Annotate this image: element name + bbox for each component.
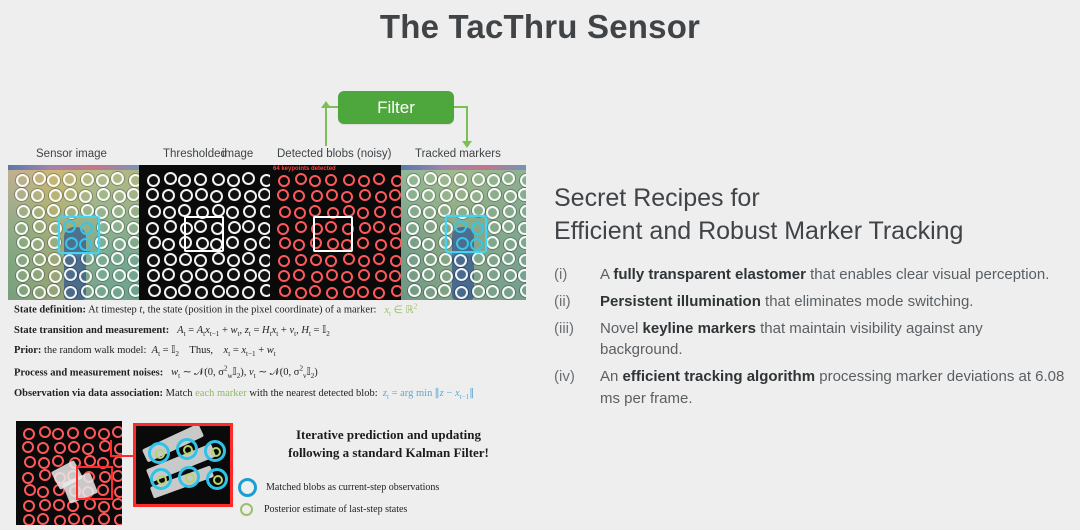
marker-dot [37, 486, 49, 498]
marker-dot [423, 206, 436, 219]
marker-dot [375, 239, 387, 251]
marker-dot [357, 237, 369, 249]
marker-dot [424, 172, 437, 185]
marker-dot [504, 190, 517, 203]
marker-dot [164, 286, 177, 299]
marker-dot [389, 189, 401, 201]
marker-dot [389, 223, 401, 235]
posterior-estimate-ring [185, 473, 195, 483]
marker-dot [358, 175, 370, 187]
selection-box [445, 215, 487, 253]
marker-dot [96, 268, 109, 281]
marker-dot [64, 268, 77, 281]
heading-line-1: Secret Recipes for [554, 182, 1054, 215]
marker-dot [128, 236, 139, 249]
marker-dot [114, 443, 122, 455]
marker-dot [343, 286, 355, 298]
marker-dot [148, 236, 161, 249]
marker-dot [454, 254, 467, 267]
green-ring-icon [240, 503, 253, 516]
math-label-state-transition: State transition and measurement: [14, 325, 169, 336]
marker-dot [519, 254, 526, 267]
marker-dot [111, 172, 124, 185]
panel-detected-blobs: 64 keypoints detected [270, 165, 401, 300]
marker-dot [113, 269, 126, 282]
marker-dot [54, 442, 66, 454]
marker-dot [114, 514, 122, 525]
connector-right-vertical [466, 106, 468, 146]
marker-dot [488, 221, 501, 234]
marker-dot [48, 253, 61, 266]
marker-dot [374, 206, 386, 218]
detail-image-zoomed [133, 423, 233, 507]
marker-dot [487, 254, 500, 267]
marker-dot [194, 254, 207, 267]
marker-dot [162, 238, 175, 251]
kalman-caption: Iterative prediction and updating follow… [246, 426, 531, 461]
posterior-estimate-ring [211, 447, 221, 457]
marker-dot [146, 188, 159, 201]
marker-dot [259, 236, 270, 249]
marker-dot [309, 175, 321, 187]
marker-dot [111, 286, 124, 299]
marker-dot [54, 515, 66, 525]
marker-dot [33, 172, 46, 185]
math-label-prior: Prior: [14, 345, 41, 356]
recipe-item-emphasis: fully transparent elastomer [613, 266, 806, 283]
marker-dot [472, 252, 485, 265]
marker-dot [39, 499, 51, 511]
marker-dot [455, 286, 468, 299]
posterior-estimate-ring [157, 475, 167, 485]
marker-dot [68, 441, 80, 453]
marker-dot [228, 188, 241, 201]
marker-dot [487, 268, 500, 281]
marker-dot [502, 286, 515, 299]
marker-dot [293, 190, 305, 202]
marker-dot [373, 221, 385, 233]
marker-dot [407, 269, 420, 282]
marker-dot [38, 457, 50, 469]
marker-dot [440, 189, 453, 202]
posterior-estimate-ring [183, 445, 193, 455]
marker-dot [504, 238, 517, 251]
legend-label: Posterior estimate of last-step states [264, 504, 407, 515]
marker-dot [455, 188, 468, 201]
marker-dot [408, 205, 421, 218]
recipe-item-number: (iii) [554, 318, 600, 362]
marker-dot [84, 427, 96, 439]
marker-dot [148, 284, 161, 297]
marker-dot [242, 286, 255, 299]
marker-dot [279, 237, 291, 249]
posterior-estimate-ring [155, 449, 165, 459]
math-eq-state-space: xt ∈ ℝ2 [379, 305, 417, 316]
heading-line-2: Efficient and Robust Marker Tracking [554, 215, 1054, 248]
marker-dot [79, 190, 92, 203]
math-eq-state-transition: At = Atxt−1 + wt, zt = Htxt + vt, Ht = 𝕀… [172, 325, 330, 336]
marker-dot [32, 206, 45, 219]
marker-dot [16, 254, 29, 267]
marker-dot [81, 204, 94, 217]
marker-dot [226, 285, 239, 298]
marker-dot [260, 174, 270, 187]
marker-dot [227, 268, 240, 281]
marker-dot [33, 286, 46, 299]
caption-tracked-markers: Tracked markers [415, 148, 501, 160]
filter-box: Filter [338, 91, 454, 124]
marker-dot [260, 205, 270, 218]
posterior-estimate-ring [213, 475, 223, 485]
marker-dot [49, 189, 62, 202]
math-eq-prior-a: At = 𝕀2 [149, 345, 179, 356]
marker-dot [15, 222, 28, 235]
marker-dot [244, 190, 257, 203]
marker-dot [180, 189, 193, 202]
page-title: The TacThru Sensor [0, 8, 1080, 46]
marker-dot [295, 173, 307, 185]
marker-dot [486, 206, 499, 219]
marker-dot [278, 270, 290, 282]
marker-dot [95, 285, 108, 298]
marker-dot [406, 222, 419, 235]
marker-dot [439, 253, 452, 266]
marker-dot [278, 175, 290, 187]
math-line-prior: Prior: the random walk model: At = 𝕀2 Th… [14, 345, 534, 359]
marker-dot [520, 284, 526, 297]
marker-dot [114, 486, 122, 498]
marker-dot [375, 270, 387, 282]
marker-dot [295, 287, 307, 299]
marker-dot [63, 173, 76, 186]
tracked-marker-ring [148, 442, 170, 464]
marker-dot [373, 287, 385, 299]
marker-dot [127, 222, 139, 235]
recipe-item: (iii)Novel keyline markers that maintain… [554, 318, 1066, 362]
marker-dot [113, 238, 126, 251]
marker-dot [391, 285, 401, 297]
marker-dot [64, 286, 77, 299]
marker-dot [309, 285, 321, 297]
tracked-marker-ring [176, 438, 198, 460]
recipe-item: (i)A fully transparent elastomer that en… [554, 264, 1066, 286]
marker-dot [258, 188, 270, 201]
marker-dot [24, 484, 36, 496]
marker-dot [470, 190, 483, 203]
marker-dot [178, 174, 191, 187]
marker-dot [195, 268, 208, 281]
marker-dot [24, 456, 36, 468]
marker-dot [99, 440, 111, 452]
marker-dot [112, 498, 122, 510]
marker-dot [129, 174, 139, 187]
marker-dot [23, 428, 35, 440]
math-text-each-marker: each marker [195, 388, 247, 399]
marker-dot [375, 191, 387, 203]
arrow-up-icon [321, 101, 331, 108]
marker-dot [407, 254, 420, 267]
marker-dot [210, 270, 223, 283]
marker-dot [82, 515, 94, 525]
marker-dot [310, 254, 322, 266]
right-panel-heading: Secret Recipes for Efficient and Robust … [554, 182, 1054, 248]
marker-dot [112, 205, 125, 218]
keypoints-detected-label: 64 keypoints detected [273, 166, 336, 172]
math-derivation-block: State definition: At timestep t, the sta… [14, 302, 534, 408]
marker-dot [37, 513, 49, 525]
marker-dot [17, 236, 30, 249]
marker-dot [147, 254, 160, 267]
recipe-item-number: (i) [554, 264, 600, 286]
marker-dot [162, 268, 175, 281]
marker-dot [407, 174, 420, 187]
marker-dot [212, 252, 225, 265]
marker-dot [486, 285, 499, 298]
marker-dot [98, 513, 110, 525]
tracked-marker-ring [178, 466, 200, 488]
marker-dot [242, 172, 255, 185]
marker-dot [358, 269, 370, 281]
marker-dot [389, 270, 401, 282]
panel-sensor-image [8, 165, 139, 300]
marker-dot [212, 173, 225, 186]
marker-dot [228, 221, 241, 234]
marker-dot [259, 254, 270, 267]
marker-dot [23, 500, 35, 512]
marker-dot [359, 222, 371, 234]
marker-dot [424, 220, 437, 233]
marker-dot [343, 174, 355, 186]
marker-dot [194, 173, 207, 186]
marker-dot [293, 239, 305, 251]
marker-dot [68, 513, 80, 525]
legend-item: Matched blobs as current-step observatio… [238, 478, 538, 497]
marker-dot [454, 173, 467, 186]
marker-dot [112, 470, 122, 482]
marker-dot [341, 271, 353, 283]
legend: Matched blobs as current-step observatio… [238, 478, 538, 522]
marker-dot [67, 427, 79, 439]
marker-dot [195, 188, 208, 201]
marker-dot [470, 270, 483, 283]
marker-dot [84, 498, 96, 510]
marker-dot [293, 269, 305, 281]
marker-dot [31, 238, 44, 251]
marker-dot [227, 254, 240, 267]
selection-box [313, 216, 353, 252]
marker-dot [242, 220, 255, 233]
marker-dot [258, 222, 270, 235]
marker-dot [438, 284, 451, 297]
marker-dot [438, 174, 451, 187]
filter-label: Filter [377, 98, 415, 118]
marker-dot [279, 206, 291, 218]
marker-dot [195, 286, 208, 299]
marker-dot [278, 255, 290, 267]
marker-dot [22, 472, 34, 484]
detail-connector-horizontal [110, 455, 134, 457]
caption-detected-blobs: Detected blobs (noisy) [277, 148, 391, 160]
marker-dot [147, 269, 160, 282]
marker-dot [258, 269, 270, 282]
math-eq-noises: wt ∼ 𝒩(0, σ2w𝕀2), vt ∼ 𝒩(0, σ2v𝕀2) [166, 367, 318, 378]
math-text-prior: the random walk model: [44, 345, 146, 356]
marker-dot [164, 253, 177, 266]
marker-dot [112, 426, 122, 438]
marker-dot [53, 499, 65, 511]
marker-dot [52, 428, 64, 440]
marker-dot [63, 254, 76, 267]
recipe-item-emphasis: efficient tracking algorithm [623, 368, 816, 385]
marker-dot [64, 188, 77, 201]
math-line-observation: Observation via data association: Match … [14, 388, 534, 402]
kalman-caption-line2: following a standard Kalman Filter! [246, 444, 531, 462]
marker-dot [424, 253, 437, 266]
marker-dot [33, 220, 46, 233]
marker-dot [127, 269, 139, 282]
marker-dot [84, 455, 96, 467]
marker-dot [242, 252, 255, 265]
math-text-observation-b: with the nearest detected blob: [249, 388, 377, 399]
caption-thresholded: Thresholded [163, 148, 227, 160]
marker-dot [325, 174, 337, 186]
marker-dot [520, 205, 526, 218]
marker-dot [502, 252, 515, 265]
marker-dot [98, 428, 110, 440]
marker-dot [146, 222, 159, 235]
marker-dot [129, 284, 139, 297]
legend-label: Matched blobs as current-step observatio… [266, 482, 439, 493]
marker-dot [373, 173, 385, 185]
marker-dot [422, 238, 435, 251]
marker-dot [164, 172, 177, 185]
marker-dot [210, 190, 223, 203]
marker-dot [16, 174, 29, 187]
marker-dot [343, 253, 355, 265]
marker-dot [440, 270, 453, 283]
marker-dot [311, 190, 323, 202]
math-eq-observation: zt = arg min ∥z − xt−1∥ [380, 388, 474, 399]
detail-image-full [16, 421, 122, 525]
marker-dot [113, 456, 122, 468]
marker-dot [17, 284, 30, 297]
marker-dot [79, 270, 92, 283]
marker-dot [15, 188, 28, 201]
marker-dot [226, 206, 239, 219]
marker-dot [37, 442, 49, 454]
marker-dot [408, 284, 421, 297]
marker-dot [279, 285, 291, 297]
marker-dot [326, 189, 338, 201]
marker-dot [227, 174, 240, 187]
tracked-marker-rings [136, 426, 230, 504]
marker-dot [520, 174, 526, 187]
marker-dot [472, 173, 485, 186]
marker-dot [111, 252, 124, 265]
marker-dot [97, 188, 110, 201]
marker-dot [502, 220, 515, 233]
recipe-item: (iv)An efficient tracking algorithm proc… [554, 366, 1066, 410]
marker-dot [390, 255, 401, 267]
panel-thresholded-image [139, 165, 270, 300]
marker-dot [518, 188, 526, 201]
marker-dot [212, 204, 225, 217]
pipeline-image-strip: 64 keypoints detected [8, 165, 526, 300]
recipe-list: (i)A fully transparent elastomer that en… [554, 264, 1066, 415]
marker-dot [455, 268, 468, 281]
marker-dot [311, 271, 323, 283]
caption-thresholded-image: image [222, 148, 253, 160]
connector-left-vertical [325, 106, 327, 146]
marker-dot [390, 237, 401, 249]
marker-dot [22, 441, 34, 453]
marker-dot [518, 222, 526, 235]
math-label-observation: Observation via data association: [14, 388, 163, 399]
marker-dot [326, 287, 338, 299]
marker-dot [33, 253, 46, 266]
tracked-marker-ring [206, 468, 228, 490]
recipe-item-text: A fully transparent elastomer that enabl… [600, 264, 1066, 286]
recipe-item-text: Novel keyline markers that maintain visi… [600, 318, 1066, 362]
marker-dot [294, 207, 306, 219]
math-text-thus: Thus, [182, 345, 221, 356]
marker-dot [502, 172, 515, 185]
marker-dot [148, 205, 161, 218]
math-line-state-transition: State transition and measurement: At = A… [14, 325, 534, 339]
marker-dot [113, 190, 126, 203]
marker-dot [212, 285, 225, 298]
zoom-region-box [76, 466, 113, 500]
math-line-noises: Process and measurement noises: wt ∼ 𝒩(0… [14, 365, 534, 381]
marker-dot [162, 189, 175, 202]
marker-dot [39, 469, 51, 481]
marker-dot [178, 204, 191, 217]
arrow-down-icon [462, 141, 472, 148]
marker-dot [422, 268, 435, 281]
marker-dot [128, 254, 139, 267]
marker-dot [277, 189, 289, 201]
marker-dot [164, 220, 177, 233]
marker-dot [47, 284, 60, 297]
marker-dot [17, 205, 30, 218]
marker-dot [243, 205, 256, 218]
marker-dot [82, 443, 94, 455]
recipe-item-text: An efficient tracking algorithm processi… [600, 366, 1066, 410]
marker-dot [49, 270, 62, 283]
legend-item: Posterior estimate of last-step states [238, 503, 538, 516]
recipe-item: (ii)Persistent illumination that elimina… [554, 291, 1066, 313]
math-line-state-definition: State definition: At timestep t, the sta… [14, 302, 534, 318]
marker-dot [391, 175, 401, 187]
math-eq-prior-b: xt = xt−1 + wt [224, 345, 276, 356]
marker-dot [16, 269, 29, 282]
tracked-marker-ring [204, 440, 226, 462]
marker-dot [179, 253, 192, 266]
marker-dot [81, 285, 94, 298]
cyan-ring-icon [238, 478, 257, 497]
marker-dot [96, 254, 109, 267]
marker-dot [406, 188, 419, 201]
slide-root: The TacThru Sensor Filter Sensor image T… [0, 0, 1080, 530]
marker-dot [111, 220, 124, 233]
marker-dot [503, 205, 516, 218]
selection-box [58, 216, 100, 254]
marker-dot [81, 173, 94, 186]
recipe-item-emphasis: Persistent illumination [600, 293, 761, 310]
kalman-caption-line1: Iterative prediction and updating [246, 426, 531, 444]
math-text-observation-a: Match [166, 388, 193, 399]
math-label-noises: Process and measurement noises: [14, 367, 163, 378]
